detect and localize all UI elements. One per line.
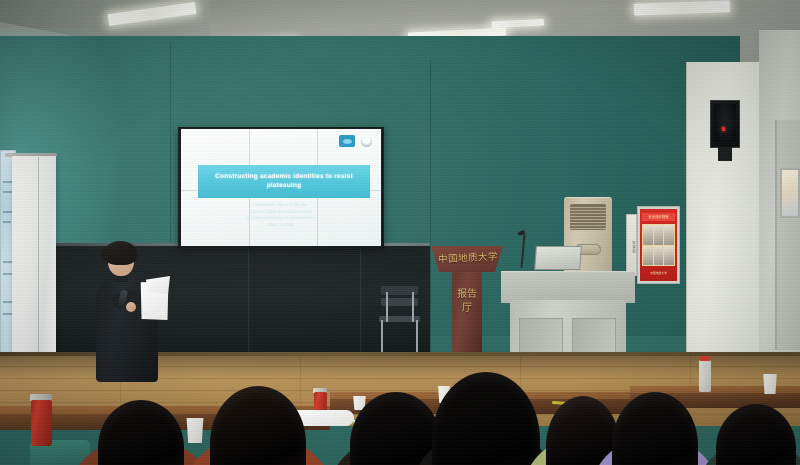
- slide-title-band: Constructing academic identities to resi…: [198, 165, 370, 198]
- projection-screen: Constructing academic identities to resi…: [178, 127, 384, 249]
- laptop-screen[interactable]: [534, 246, 582, 270]
- speaker-led-indicator: [722, 127, 725, 131]
- poster-cell: [664, 225, 674, 245]
- podium-hall-name: 报告厅: [455, 288, 479, 315]
- university-seal-icon: [361, 136, 372, 147]
- poster-cell: [664, 246, 674, 266]
- speaker-cone-icon: [714, 104, 736, 142]
- wall-speaker: [710, 100, 740, 148]
- lecture-hall-photo: Constructing academic identities to resi…: [0, 0, 800, 465]
- ac-grille-icon: [570, 204, 606, 230]
- red-thermos[interactable]: [31, 400, 52, 446]
- backdrop-seam: [360, 246, 361, 364]
- presenter-hair-bun: [101, 249, 112, 260]
- paper-cup[interactable]: [762, 374, 778, 394]
- wall-seam: [170, 42, 171, 252]
- dark-stage-backdrop: [0, 246, 430, 364]
- bottle-cap: [700, 356, 710, 361]
- speaker-mount-bracket: [718, 147, 732, 161]
- poster-cell: [654, 246, 664, 266]
- poster-photo-grid: [642, 224, 675, 266]
- slide-sub-line-4: Dec. 3, 2016: [181, 222, 381, 229]
- poster-footer-text: 中国地质大学: [642, 269, 675, 278]
- poster-title-band: 安全操作规程: [642, 213, 675, 221]
- door-window: [780, 168, 800, 218]
- backdrop-seam: [248, 246, 249, 364]
- stage-chair-leg: [386, 292, 388, 322]
- slide-title: Constructing academic identities to resi…: [198, 173, 370, 191]
- poster-cell: [654, 225, 664, 245]
- lectern-desktop: [501, 271, 635, 303]
- banner-fold-line: [38, 157, 39, 365]
- slide-surface: Constructing academic identities to resi…: [181, 129, 381, 246]
- paper-cup[interactable]: [185, 418, 205, 443]
- slide-subtitle-block: Presenter: Han Y X Dr. Ma Central China …: [181, 202, 381, 228]
- conference-logo-icon: [339, 135, 355, 147]
- water-bottle[interactable]: [699, 360, 711, 392]
- poster-cell: [643, 246, 653, 266]
- rollup-banner: [12, 156, 56, 366]
- presenter-hand-left: [126, 302, 136, 312]
- side-door[interactable]: [775, 120, 800, 350]
- wall-seam: [430, 60, 431, 360]
- stage-chair-leg: [412, 292, 414, 322]
- poster-cell: [643, 225, 653, 245]
- poster-side-strip: 安全须知: [626, 214, 637, 276]
